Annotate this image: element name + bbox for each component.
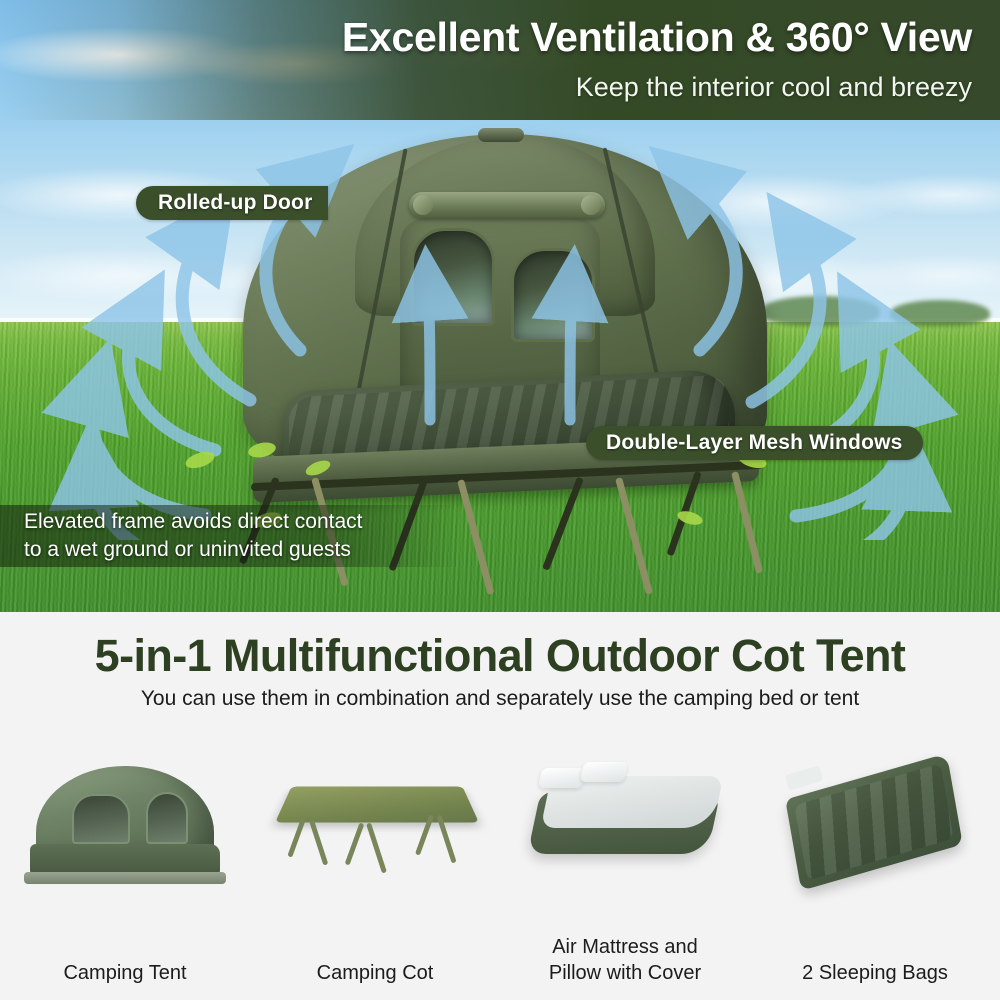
hero-caption-line-1: Elevated frame avoids direct contact [24,508,454,536]
pillow [580,762,628,782]
product-item-camping-tent: Camping Tent [0,740,250,990]
product-item-label: Air Mattress and Pillow with Cover [500,934,750,986]
product-title: 5-in-1 Multifunctional Outdoor Cot Tent [0,630,1000,682]
callout-label: Double-Layer Mesh Windows [606,431,903,455]
product-item-list: Camping Tent Camping Cot [0,740,1000,990]
sleeping-bags-image [760,740,990,900]
product-item-label: Camping Cot [250,960,500,986]
air-mattress-image [510,740,740,900]
product-item-label: 2 Sleeping Bags [750,960,1000,986]
hero-caption-line-2: to a wet ground or uninvited guests [24,536,454,564]
hero-caption: Elevated frame avoids direct contact to … [24,508,454,564]
product-subtitle: You can use them in combination and sepa… [0,687,1000,711]
product-item-camping-cot: Camping Cot [250,740,500,990]
product-breakdown-section: 5-in-1 Multifunctional Outdoor Cot Tent … [0,612,1000,1000]
cot-leg [309,818,329,865]
callout-rolled-up-door: Rolled-up Door [136,186,328,220]
cot-leg [366,823,387,874]
pillow [538,768,586,788]
cot-surface [275,787,479,823]
tent-base [24,872,226,884]
product-item-air-mattress: Air Mattress and Pillow with Cover [500,740,750,990]
cot-leg [287,818,305,857]
camping-tent-image [10,740,240,900]
product-marketing-image: Excellent Ventilation & 360° View Keep t… [0,0,1000,1000]
callout-label: Rolled-up Door [158,191,312,215]
callout-double-layer-mesh-windows: Double-Layer Mesh Windows [586,426,923,460]
page-title: Excellent Ventilation & 360° View [342,14,972,61]
airflow-arrows [0,120,1000,540]
tent-mesh-window [72,794,130,844]
cot-leg [345,822,365,865]
product-item-sleeping-bags: 2 Sleeping Bags [750,740,1000,990]
camping-cot-image [260,740,490,900]
sleeping-bag-flap [784,765,823,790]
page-subtitle: Keep the interior cool and breezy [576,72,972,103]
tent-mesh-window [146,792,188,844]
hero-photo: Excellent Ventilation & 360° View Keep t… [0,0,1000,612]
product-item-label: Camping Tent [0,960,250,986]
